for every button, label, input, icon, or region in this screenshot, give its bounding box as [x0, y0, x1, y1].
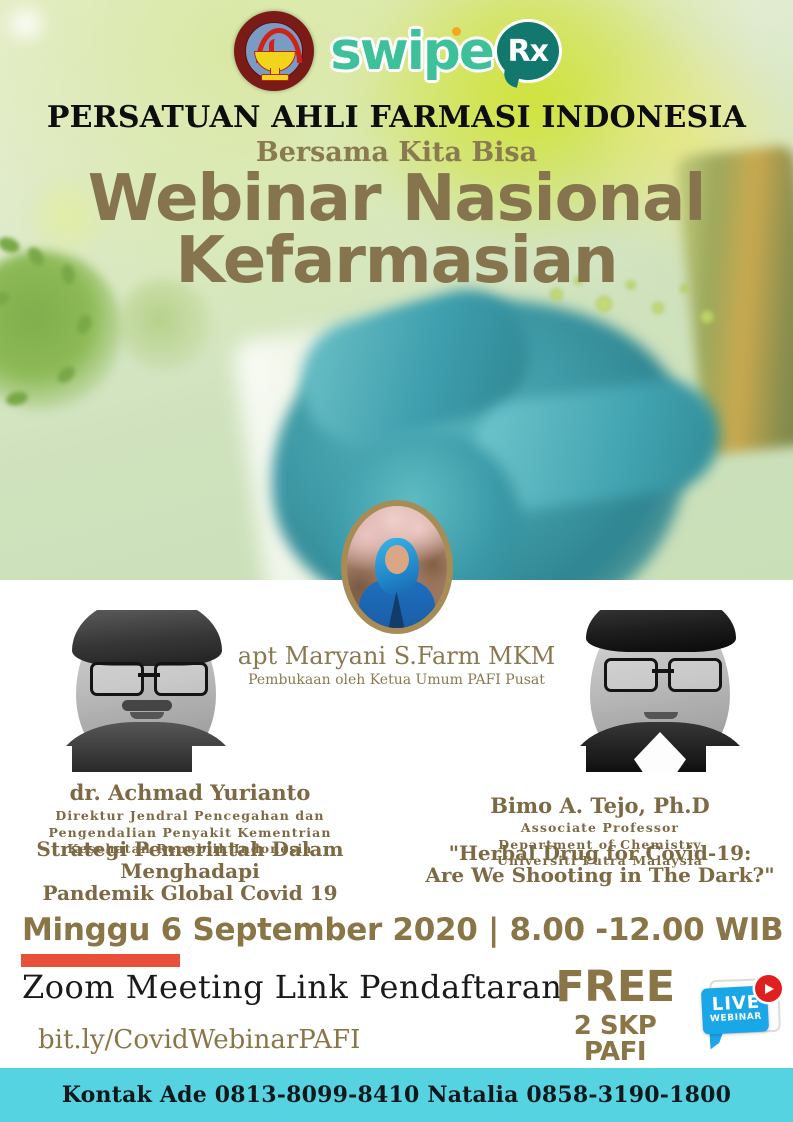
topic-line: Strategi Pemerintah Dalam Menghadapi	[0, 838, 405, 882]
topic-line: Are We Shooting in The Dark?"	[385, 864, 793, 886]
avatar-face	[385, 545, 409, 574]
pafi-logo-icon	[234, 11, 314, 91]
registration-platform-label: Zoom Meeting Link Pendaftaran	[22, 968, 562, 1006]
left-speaker-topic: Strategi Pemerintah Dalam Menghadapi Pan…	[0, 838, 405, 904]
live-webinar-badge-icon: LIVE WEBINAR	[700, 975, 784, 1051]
swipe-wordmark: swipe	[330, 25, 493, 78]
glasses-lens-left	[90, 662, 144, 696]
speaker-hair	[72, 596, 222, 666]
speaker-mouth	[644, 712, 678, 719]
affiliation-line: Direktur Jendral Pencegahan dan	[0, 808, 390, 825]
contact-band: Kontak Ade 0813-8099-8410 Natalia 0858-3…	[0, 1068, 793, 1122]
contact-text: Kontak Ade 0813-8099-8410 Natalia 0858-3…	[62, 1082, 731, 1108]
right-speaker-name: Bimo A. Tejo, Ph.D	[400, 793, 793, 818]
affiliation-line: Associate Professor	[400, 820, 793, 837]
accent-underline	[21, 954, 180, 967]
glasses-bridge	[652, 669, 674, 673]
rx-bubble-text: Rx	[508, 34, 548, 69]
title-line-2: Kefarmasian	[0, 230, 793, 292]
right-speaker-photo	[556, 586, 764, 776]
topic-line: "Herbal Drug for Covid-19:	[385, 842, 793, 864]
speaker-glasses-icon	[90, 662, 208, 692]
brush-mask	[42, 586, 250, 776]
page-title: Webinar Nasional Kefarmasian	[0, 168, 793, 292]
swipe-wordmark-text: swipe	[330, 21, 493, 82]
glasses-bridge	[138, 673, 160, 677]
pafi-foot-icon	[261, 74, 289, 81]
speaker-mouth	[130, 712, 164, 719]
price-block: FREE 2 SKP PAFI	[540, 966, 690, 1065]
webinar-poster: swipe Rx PERSATUAN AHLI FARMASI INDONESI…	[0, 0, 793, 1122]
rx-speech-bubble-icon: Rx	[497, 22, 559, 80]
glasses-lens-right	[668, 658, 722, 692]
free-label: FREE	[540, 966, 690, 1009]
swipe-rx-logo-icon: swipe Rx	[330, 22, 559, 80]
topic-line: Pandemik Global Covid 19	[0, 882, 405, 904]
registration-link[interactable]: bit.ly/CovidWebinarPAFI	[38, 1025, 360, 1055]
logo-row: swipe Rx	[0, 10, 793, 92]
left-speaker-photo	[42, 586, 250, 776]
organization-name: PERSATUAN AHLI FARMASI INDONESIA	[0, 100, 793, 135]
right-speaker-topic: "Herbal Drug for Covid-19: Are We Shooti…	[385, 842, 793, 886]
schedule-date-time: Minggu 6 September 2020 | 8.00 -12.00 WI…	[22, 912, 783, 948]
left-speaker-name: dr. Achmad Yurianto	[0, 780, 390, 805]
skp-label: 2 SKP PAFI	[540, 1013, 690, 1065]
glasses-lens-right	[154, 662, 208, 696]
play-button-icon	[755, 975, 782, 1002]
speaker-glasses-icon	[604, 658, 722, 688]
glasses-lens-left	[604, 658, 658, 692]
speaker-moustache	[122, 700, 172, 711]
speaker-hair	[586, 590, 736, 652]
center-speaker-avatar	[341, 500, 453, 634]
brush-mask	[556, 586, 764, 776]
swipe-i-dot-icon	[452, 27, 461, 36]
